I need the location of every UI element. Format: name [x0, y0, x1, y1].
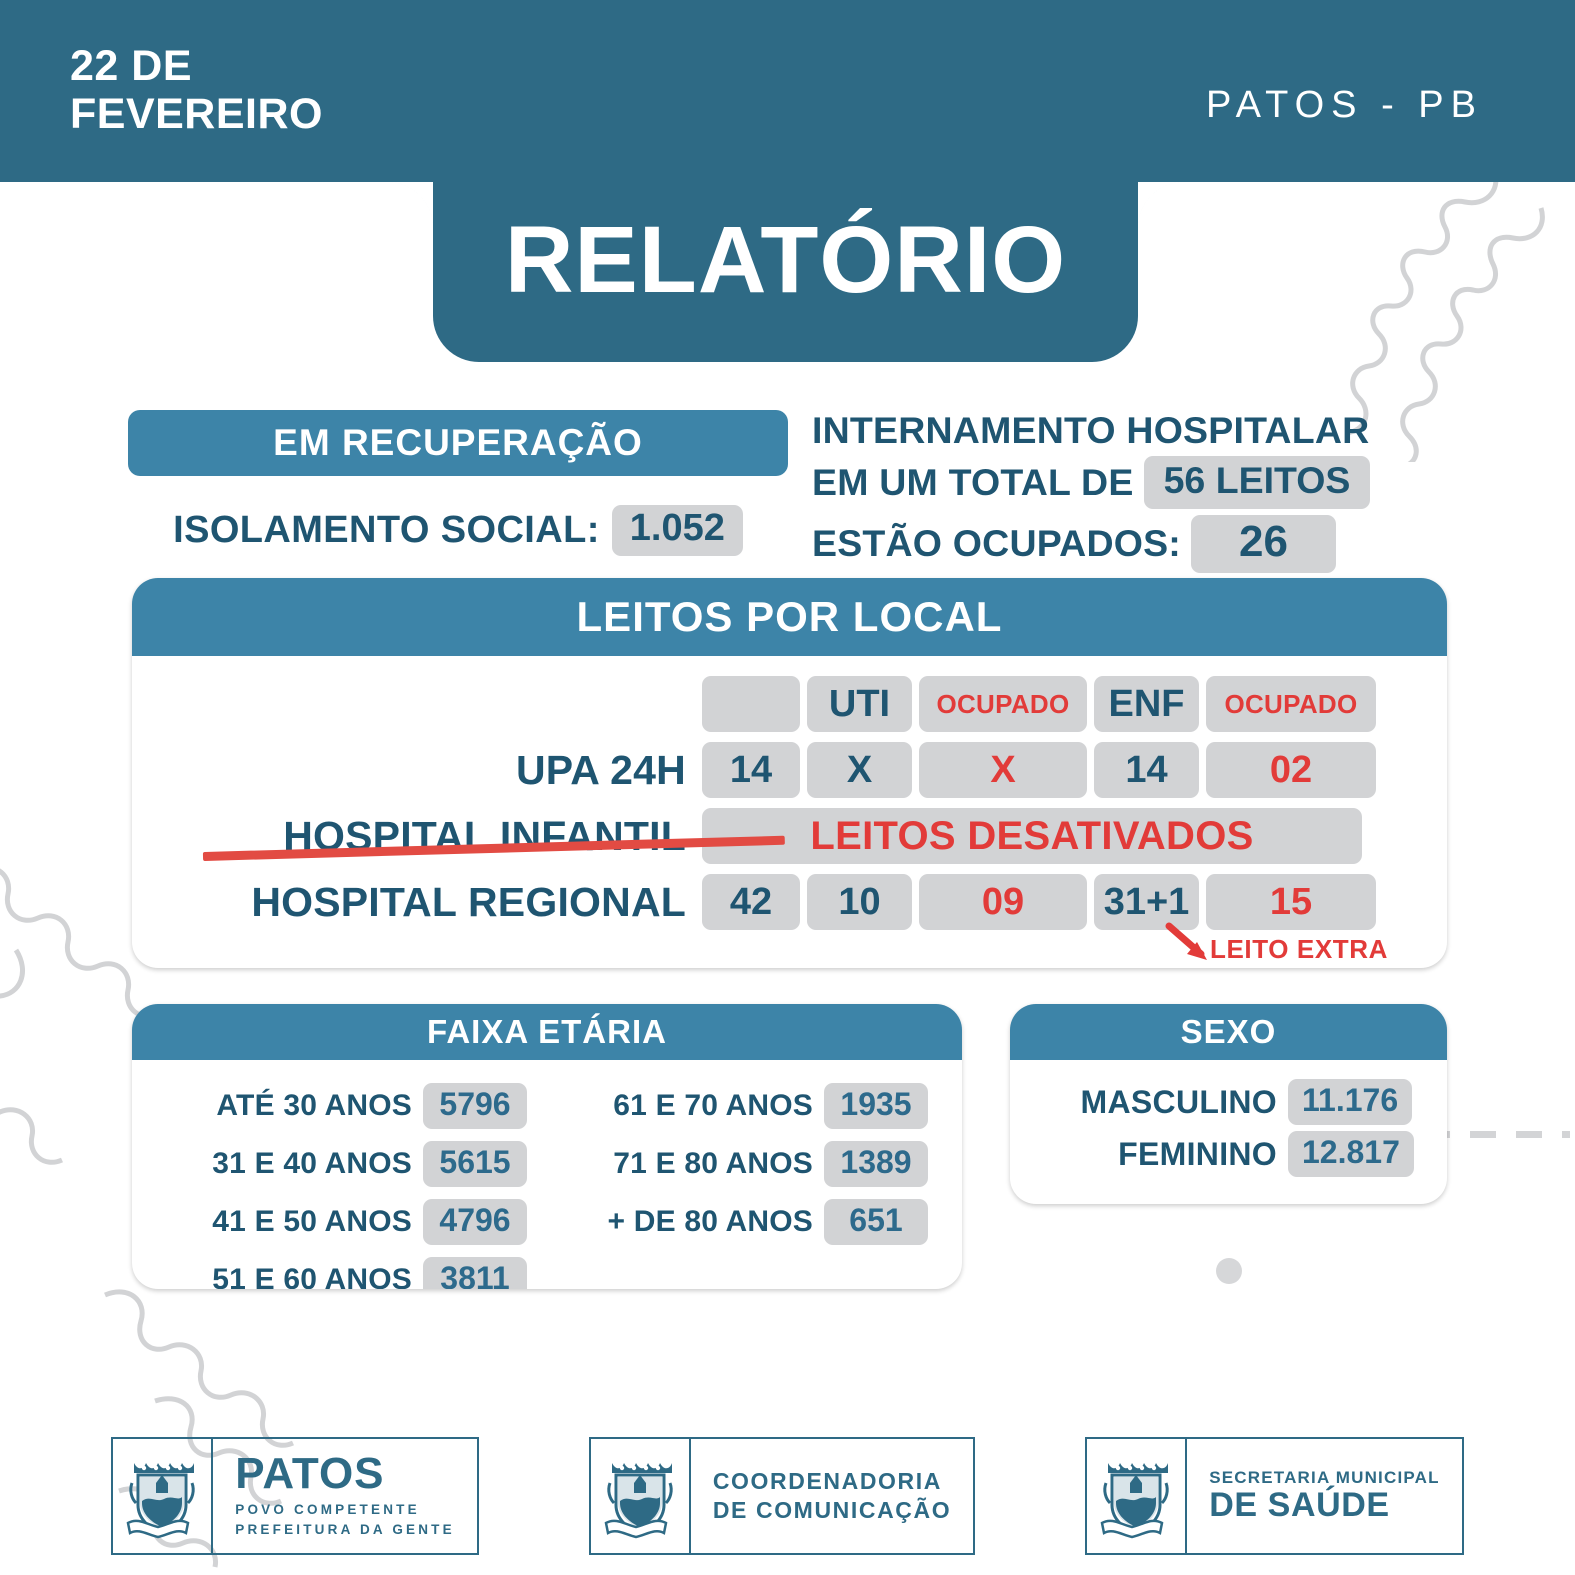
beds-col-uti-ocupado-header: OCUPADO [919, 676, 1087, 732]
recovery-pill: EM RECUPERAÇÃO [128, 410, 788, 476]
beds-infantil-note: LEITOS DESATIVADOS [702, 808, 1362, 864]
table-row: HOSPITAL REGIONAL 42 10 09 31+1 15 [132, 874, 1447, 930]
logo-secretaria-wordmark: SECRETARIA MUNICIPAL DE SAÚDE [1187, 1439, 1462, 1553]
list-item: 41 E 50 ANOS 4796 [160, 1198, 527, 1246]
hospitalization-total-row: EM UM TOTAL DE 56 LEITOS [812, 456, 1442, 508]
table-row: UPA 24H 14 X X 14 02 [132, 742, 1447, 798]
isolation-row: ISOLAMENTO SOCIAL: 1.052 [128, 505, 788, 556]
logo-secretaria-saude: SECRETARIA MUNICIPAL DE SAÚDE [1085, 1437, 1464, 1555]
beds-col-enf-ocupado-header: OCUPADO [1206, 676, 1376, 732]
logo-secretaria-big: DE SAÚDE [1209, 1488, 1390, 1524]
age-group-label: ATÉ 30 ANOS [160, 1089, 412, 1123]
logo-patos: PATOS POVO COMPETENTE PREFEITURA DA GENT… [111, 1437, 479, 1555]
logo-coordenadoria-line1: COORDENADORIA [713, 1467, 942, 1496]
age-group-value: 5796 [423, 1083, 527, 1128]
sex-body: MASCULINO 11.176 FEMININO 12.817 [1010, 1060, 1447, 1204]
list-item: 31 E 40 ANOS 5615 [160, 1140, 527, 1188]
logo-patos-tagline1: POVO COMPETENTE [235, 1500, 420, 1520]
age-group-label: 31 E 40 ANOS [160, 1147, 412, 1181]
age-group-label: 71 E 80 ANOS [545, 1147, 813, 1181]
city-label: PATOS - PB [1206, 84, 1483, 127]
sex-card-title: SEXO [1010, 1004, 1447, 1060]
age-group-value: 651 [824, 1199, 928, 1244]
page-title: RELATÓRIO [433, 206, 1138, 315]
hospitalization-block: INTERNAMENTO HOSPITALAR EM UM TOTAL DE 5… [812, 408, 1442, 573]
list-item: 51 E 60 ANOS 3811 [160, 1256, 527, 1289]
beds-upa-uti-ocupado: X [919, 742, 1087, 798]
logo-coordenadoria-wordmark: COORDENADORIA DE COMUNICAÇÃO [691, 1439, 973, 1553]
age-groups-column-right: 61 E 70 ANOS 1935 71 E 80 ANOS 1389 + DE… [545, 1082, 928, 1246]
age-group-value: 1935 [824, 1083, 928, 1128]
beds-row-place-regional: HOSPITAL REGIONAL [132, 879, 702, 926]
isolation-value: 1.052 [612, 505, 743, 556]
logo-patos-wordmark: PATOS POVO COMPETENTE PREFEITURA DA GENT… [213, 1439, 477, 1553]
beds-col-total-header [702, 676, 800, 732]
sex-value: 11.176 [1288, 1079, 1412, 1124]
age-group-value: 4796 [423, 1199, 527, 1244]
decorative-dot-bottom [1216, 1258, 1242, 1284]
logo-patos-name: PATOS [235, 1452, 384, 1496]
age-group-label: 51 E 60 ANOS [160, 1263, 412, 1289]
age-groups-card: FAIXA ETÁRIA ATÉ 30 ANOS 5796 31 E 40 AN… [132, 1004, 962, 1289]
report-date: 22 DE FEVEREIRO [70, 42, 323, 138]
beds-col-uti-header: UTI [807, 676, 912, 732]
beds-upa-enf: 14 [1094, 742, 1199, 798]
beds-upa-uti: X [807, 742, 912, 798]
sex-card: SEXO MASCULINO 11.176 FEMININO 12.817 [1010, 1004, 1447, 1204]
beds-regional-uti: 10 [807, 874, 912, 930]
recovery-pill-label: EM RECUPERAÇÃO [273, 422, 643, 464]
sex-value: 12.817 [1288, 1131, 1414, 1176]
coat-of-arms-icon [591, 1439, 691, 1553]
age-groups-body: ATÉ 30 ANOS 5796 31 E 40 ANOS 5615 41 E … [132, 1060, 962, 1289]
beds-col-enf-header: ENF [1094, 676, 1199, 732]
age-group-label: 41 E 50 ANOS [160, 1205, 412, 1239]
beds-table: UTI OCUPADO ENF OCUPADO UPA 24H 14 X X 1… [132, 656, 1447, 968]
coat-of-arms-icon [113, 1439, 213, 1553]
list-item: ATÉ 30 ANOS 5796 [160, 1082, 527, 1130]
age-group-value: 5615 [423, 1141, 527, 1186]
age-group-label: + DE 80 ANOS [545, 1205, 813, 1239]
hospitalization-total-value: 56 LEITOS [1144, 456, 1371, 508]
age-groups-column-left: ATÉ 30 ANOS 5796 31 E 40 ANOS 5615 41 E … [160, 1082, 527, 1289]
list-item: 61 E 70 ANOS 1935 [545, 1082, 928, 1130]
age-groups-card-title: FAIXA ETÁRIA [132, 1004, 962, 1060]
beds-upa-enf-ocupado: 02 [1206, 742, 1376, 798]
isolation-label: ISOLAMENTO SOCIAL: [173, 509, 600, 552]
beds-row-place-upa: UPA 24H [132, 747, 702, 794]
leito-extra-label: LEITO EXTRA [1210, 934, 1388, 965]
beds-regional-enf-ocupado: 15 [1206, 874, 1376, 930]
hospitalization-title: INTERNAMENTO HOSPITALAR [812, 408, 1442, 452]
coat-of-arms-icon [1087, 1439, 1187, 1553]
logo-secretaria-small: SECRETARIA MUNICIPAL [1209, 1468, 1440, 1488]
footer-logos: PATOS POVO COMPETENTE PREFEITURA DA GENT… [0, 1437, 1575, 1555]
age-group-label: 61 E 70 ANOS [545, 1089, 813, 1123]
hospitalization-occupied-label: ESTÃO OCUPADOS: [812, 522, 1181, 565]
age-group-value: 3811 [423, 1257, 527, 1289]
beds-header-row: UTI OCUPADO ENF OCUPADO [132, 676, 1447, 732]
logo-patos-tagline2: PREFEITURA DA GENTE [235, 1520, 455, 1540]
sex-label: MASCULINO [1040, 1084, 1277, 1121]
hospitalization-occupied-value: 26 [1191, 515, 1336, 573]
beds-card-title: LEITOS POR LOCAL [132, 578, 1447, 656]
sex-label: FEMININO [1040, 1136, 1277, 1173]
report-page: 22 DE FEVEREIRO PATOS - PB RELATÓRIO EM … [0, 0, 1575, 1575]
list-item: FEMININO 12.817 [1010, 1128, 1447, 1180]
beds-regional-total: 42 [702, 874, 800, 930]
list-item: 71 E 80 ANOS 1389 [545, 1140, 928, 1188]
logo-coordenadoria: COORDENADORIA DE COMUNICAÇÃO [589, 1437, 975, 1555]
beds-by-location-card: LEITOS POR LOCAL UTI OCUPADO ENF OCUPADO… [132, 578, 1447, 968]
hospitalization-occupied-row: ESTÃO OCUPADOS: 26 [812, 515, 1442, 573]
list-item: + DE 80 ANOS 651 [545, 1198, 928, 1246]
list-item: MASCULINO 11.176 [1010, 1076, 1447, 1128]
age-group-value: 1389 [824, 1141, 928, 1186]
hospitalization-total-label: EM UM TOTAL DE [812, 461, 1134, 504]
beds-regional-uti-ocupado: 09 [919, 874, 1087, 930]
beds-upa-total: 14 [702, 742, 800, 798]
logo-coordenadoria-line2: DE COMUNICAÇÃO [713, 1496, 951, 1525]
